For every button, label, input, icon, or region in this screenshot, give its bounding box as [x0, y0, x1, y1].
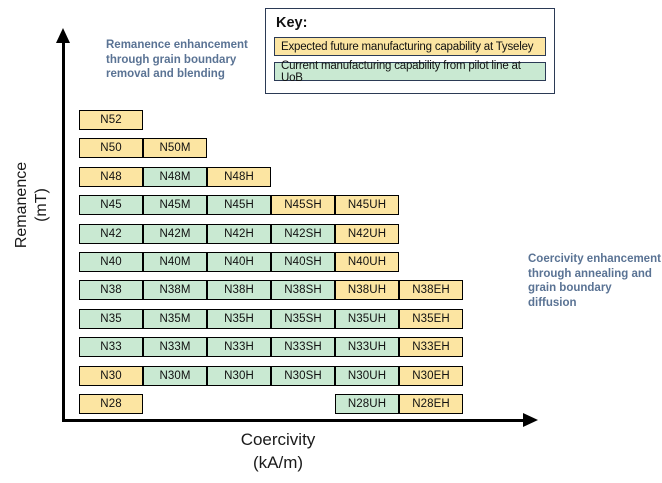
y-axis-arrowhead-icon	[56, 28, 70, 43]
grade-cell-N33M[interactable]: N33M	[143, 337, 207, 357]
grade-cell-N48H[interactable]: N48H	[207, 167, 271, 187]
key-item-current: Current manufacturing capability from pi…	[274, 62, 546, 81]
grade-cell-N35UH[interactable]: N35UH	[335, 309, 399, 329]
grade-cell-N42[interactable]: N42	[79, 224, 143, 244]
y-axis-title: Remanence (mT)	[12, 145, 52, 265]
grade-cell-N30UH[interactable]: N30UH	[335, 366, 399, 386]
grade-cell-empty	[271, 394, 335, 414]
grade-cell-N52[interactable]: N52	[79, 110, 143, 130]
y-axis-title-line1: Remanence	[13, 162, 30, 248]
grade-cell-empty	[143, 394, 207, 414]
grade-cell-N28UH[interactable]: N28UH	[335, 394, 399, 414]
x-axis-title: Coercivity (kA/m)	[185, 428, 371, 474]
y-axis-line	[62, 40, 65, 422]
grade-cell-N35EH[interactable]: N35EH	[399, 309, 463, 329]
grade-cell-N38H[interactable]: N38H	[207, 280, 271, 300]
grade-cell-N42M[interactable]: N42M	[143, 224, 207, 244]
grade-cell-N45H[interactable]: N45H	[207, 195, 271, 215]
grade-cell-N40H[interactable]: N40H	[207, 252, 271, 272]
grade-cell-N50[interactable]: N50	[79, 138, 143, 158]
grade-cell-N30M[interactable]: N30M	[143, 366, 207, 386]
grade-cell-N42SH[interactable]: N42SH	[271, 224, 335, 244]
grade-cell-N35H[interactable]: N35H	[207, 309, 271, 329]
grade-cell-N38SH[interactable]: N38SH	[271, 280, 335, 300]
grade-cell-N45M[interactable]: N45M	[143, 195, 207, 215]
grade-cell-N38M[interactable]: N38M	[143, 280, 207, 300]
annotation-coercivity-enhancement: Coercivity enhancement through annealing…	[528, 252, 662, 310]
grade-cell-N50M[interactable]: N50M	[143, 138, 207, 158]
grade-cell-N45UH[interactable]: N45UH	[335, 195, 399, 215]
grade-cell-N33H[interactable]: N33H	[207, 337, 271, 357]
grade-cell-N33SH[interactable]: N33SH	[271, 337, 335, 357]
x-axis-title-line1: Coercivity	[185, 428, 371, 451]
grade-cell-N48M[interactable]: N48M	[143, 167, 207, 187]
grade-cell-N30H[interactable]: N30H	[207, 366, 271, 386]
grade-cell-N48[interactable]: N48	[79, 167, 143, 187]
y-axis-title-line2: (mT)	[32, 145, 52, 265]
grade-cell-N35[interactable]: N35	[79, 309, 143, 329]
grade-cell-N33EH[interactable]: N33EH	[399, 337, 463, 357]
grade-cell-N35SH[interactable]: N35SH	[271, 309, 335, 329]
grade-cell-N33UH[interactable]: N33UH	[335, 337, 399, 357]
key-item-future: Expected future manufacturing capability…	[274, 37, 546, 56]
grade-cell-empty	[207, 394, 271, 414]
grade-cell-N38UH[interactable]: N38UH	[335, 280, 399, 300]
x-axis-arrowhead-icon	[523, 413, 538, 427]
grade-cell-N45[interactable]: N45	[79, 195, 143, 215]
annotation-remanence-enhancement: Remanence enhancement through grain boun…	[106, 38, 254, 82]
grade-cell-N45SH[interactable]: N45SH	[271, 195, 335, 215]
key-title: Key:	[276, 15, 546, 31]
grade-cell-N28[interactable]: N28	[79, 394, 143, 414]
grade-cell-N40SH[interactable]: N40SH	[271, 252, 335, 272]
grade-cell-N30SH[interactable]: N30SH	[271, 366, 335, 386]
grade-cell-N28EH[interactable]: N28EH	[399, 394, 463, 414]
key-item-label: Expected future manufacturing capability…	[281, 41, 533, 53]
grade-cell-N40[interactable]: N40	[79, 252, 143, 272]
grade-cell-N40M[interactable]: N40M	[143, 252, 207, 272]
grade-cell-N42H[interactable]: N42H	[207, 224, 271, 244]
grade-cell-N35M[interactable]: N35M	[143, 309, 207, 329]
x-axis-title-line2: (kA/m)	[185, 451, 371, 474]
grade-cell-N38EH[interactable]: N38EH	[399, 280, 463, 300]
grade-cell-N30EH[interactable]: N30EH	[399, 366, 463, 386]
grade-cell-N33[interactable]: N33	[79, 337, 143, 357]
key-legend-box: Key: Expected future manufacturing capab…	[265, 8, 555, 94]
key-items-list: Expected future manufacturing capability…	[274, 37, 546, 81]
grade-cell-N42UH[interactable]: N42UH	[335, 224, 399, 244]
x-axis-line	[62, 419, 524, 422]
grade-cell-N40UH[interactable]: N40UH	[335, 252, 399, 272]
key-item-label: Current manufacturing capability from pi…	[281, 60, 545, 84]
grade-cell-N30[interactable]: N30	[79, 366, 143, 386]
grade-cell-N38[interactable]: N38	[79, 280, 143, 300]
